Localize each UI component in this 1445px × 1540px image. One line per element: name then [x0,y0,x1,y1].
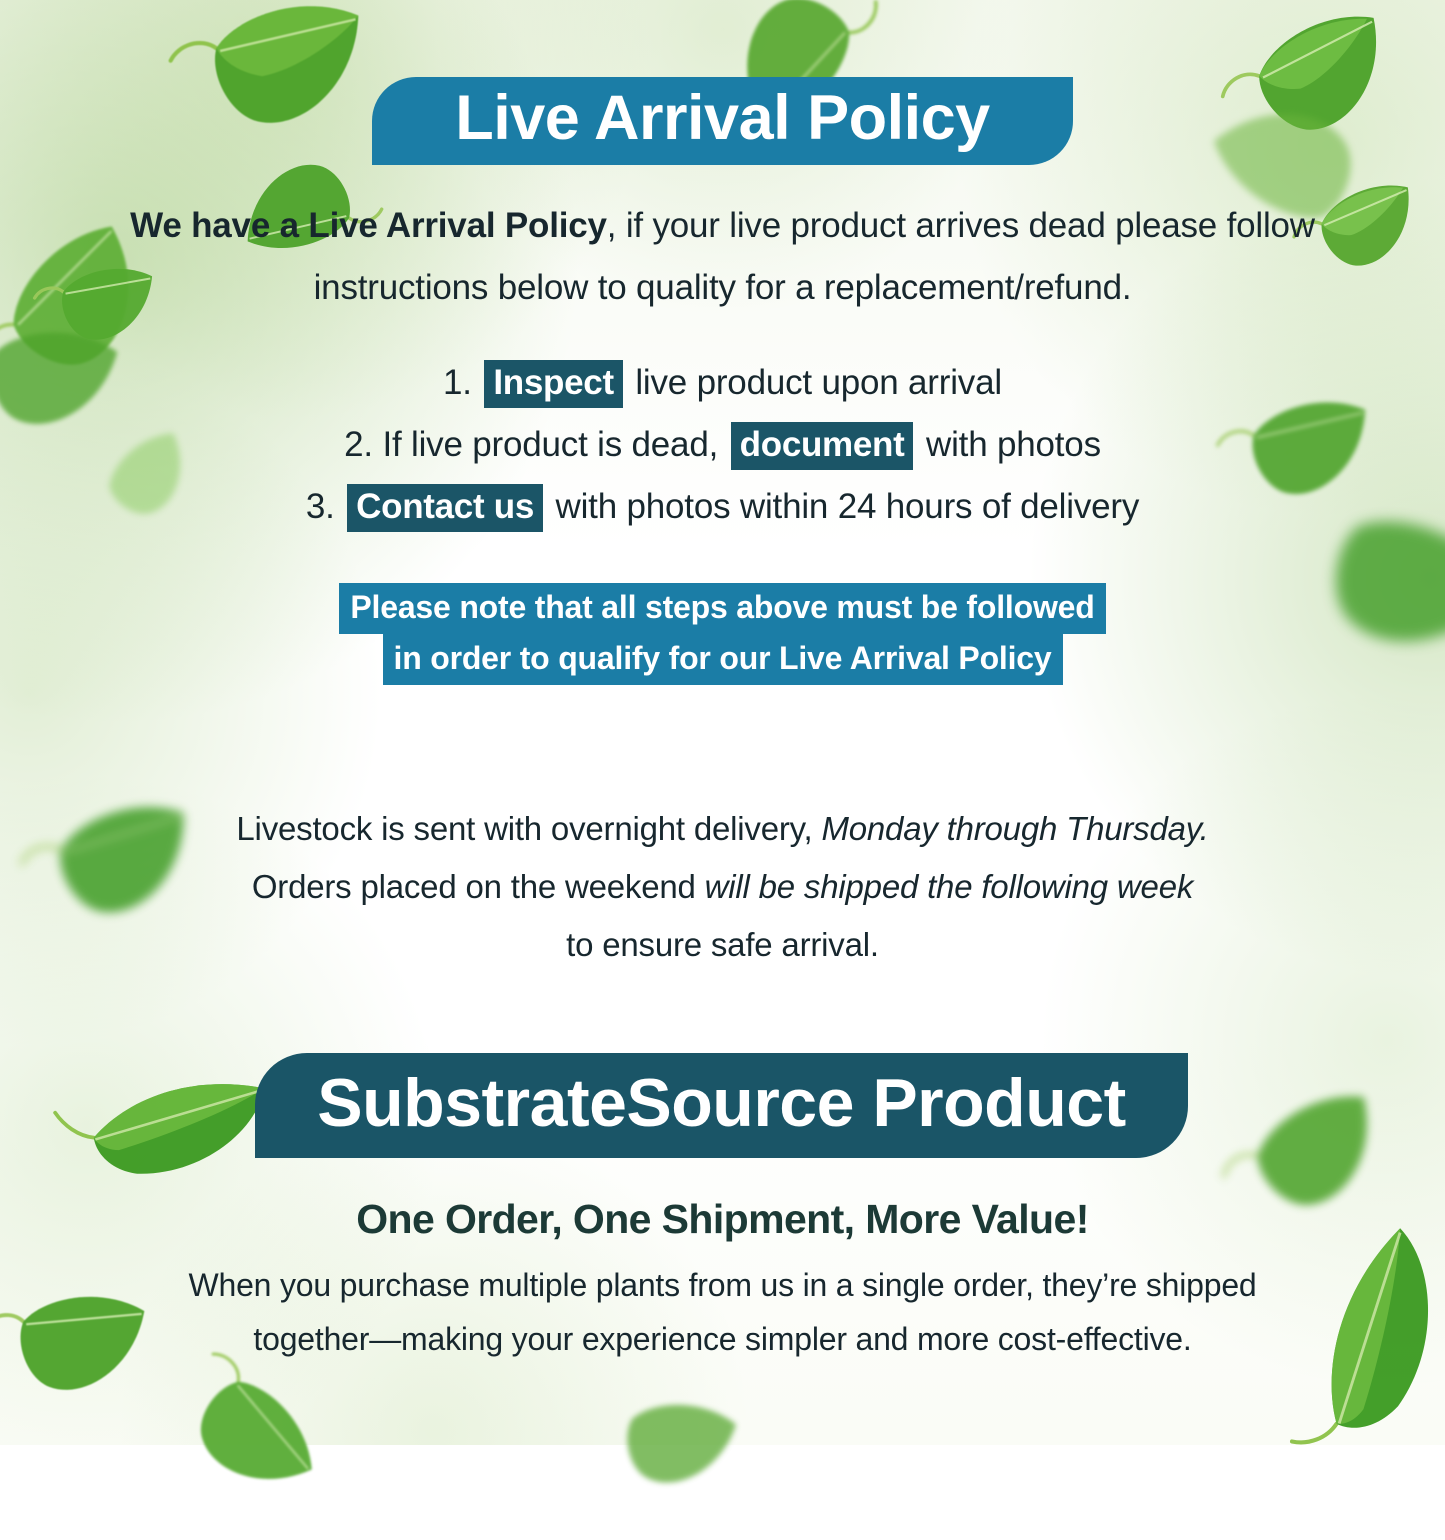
intro-line-2: instructions below to quality for a repl… [0,257,1445,319]
shipping-line-1: Livestock is sent with overnight deliver… [0,800,1445,858]
substratesource-product-banner-label: SubstrateSource Product [317,1064,1125,1142]
policy-step-3-after: with photos within 24 hours of delivery [556,487,1140,526]
policy-step-2-highlight: document [731,422,914,470]
value-body-line-1: When you purchase multiple plants from u… [0,1258,1445,1312]
policy-step-1-highlight: Inspect [484,360,622,408]
policy-note-callout: Please note that all steps above must be… [0,583,1445,685]
shipping-schedule-paragraph: Livestock is sent with overnight deliver… [0,800,1445,974]
policy-note-line-2: in order to qualify for our Live Arrival… [383,634,1063,685]
shipping-line-2: Orders placed on the weekend will be shi… [0,858,1445,916]
value-body-line-2: together—making your experience simpler … [0,1312,1445,1366]
intro-paragraph: We have a Live Arrival Policy, if your l… [0,195,1445,319]
value-proposition-body: When you purchase multiple plants from u… [0,1258,1445,1366]
policy-note-line-1: Please note that all steps above must be… [339,583,1105,634]
shipping-line-1-italic: Monday through Thursday. [821,810,1208,847]
value-proposition-headline: One Order, One Shipment, More Value! [0,1196,1445,1243]
policy-steps-list: 1. Inspect live product upon arrival 2. … [0,352,1445,538]
substratesource-product-banner: SubstrateSource Product [255,1053,1188,1158]
infographic-content: Live Arrival Policy We have a Live Arriv… [0,0,1445,1445]
shipping-line-3: to ensure safe arrival. [0,916,1445,974]
policy-step-2: 2. If live product is dead, document wit… [0,414,1445,476]
policy-step-2-number: 2. [344,425,373,464]
policy-step-3: 3. Contact us with photos within 24 hour… [0,476,1445,538]
live-arrival-policy-banner-label: Live Arrival Policy [455,82,989,154]
live-arrival-policy-banner: Live Arrival Policy [372,77,1073,165]
policy-step-1-number: 1. [443,363,472,402]
shipping-line-1-normal: Livestock is sent with overnight deliver… [236,810,812,847]
shipping-line-2-italic: will be shipped the following week [705,868,1194,905]
intro-line-1: We have a Live Arrival Policy, if your l… [0,195,1445,257]
shipping-line-2-normal: Orders placed on the weekend [252,868,696,905]
policy-step-3-number: 3. [306,487,335,526]
intro-bold-lead: We have a Live Arrival Policy [130,206,607,245]
policy-step-2-before: If live product is dead, [382,425,718,464]
policy-step-3-highlight: Contact us [347,484,543,532]
policy-step-1-after: live product upon arrival [635,363,1002,402]
policy-step-1: 1. Inspect live product upon arrival [0,352,1445,414]
policy-step-2-after: with photos [926,425,1101,464]
intro-line-1-rest: , if your live product arrives dead plea… [607,206,1315,245]
